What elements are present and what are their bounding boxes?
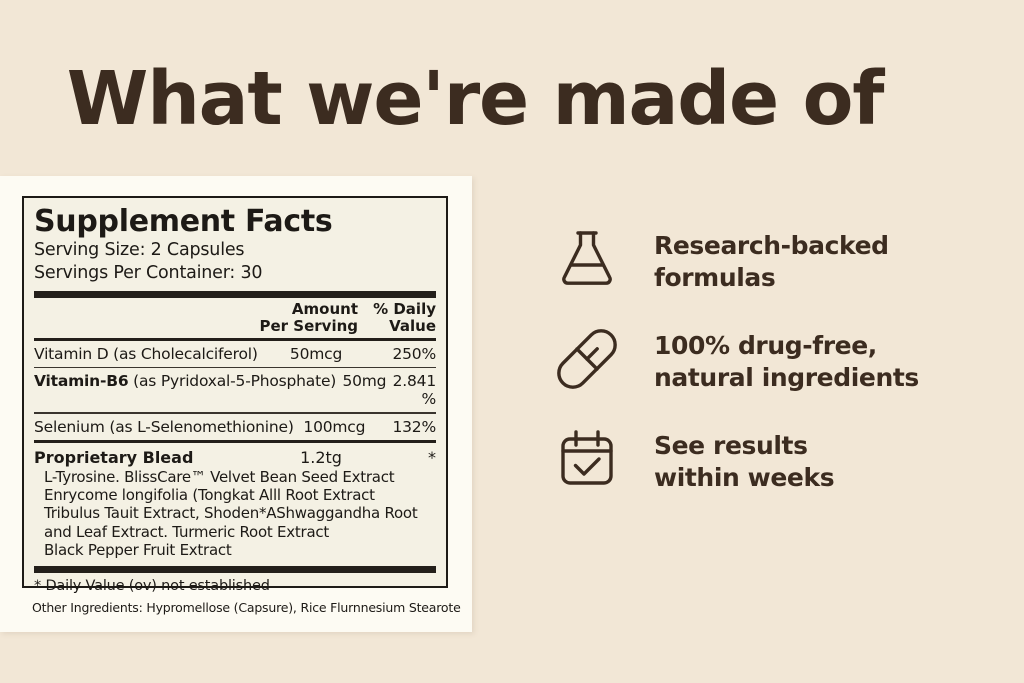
nutrient-name: Vitamin D (as Cholecalciferol) <box>34 345 268 363</box>
divider-thick-bottom <box>34 566 436 573</box>
proprietary-blend-row: Proprietary Blead 1.2tg * <box>34 443 436 468</box>
column-header-amount-line1: Amount <box>240 301 358 318</box>
feature-list: Research-backed formulas 100% drug-free,… <box>556 228 919 528</box>
feature-label-line2: within weeks <box>654 462 834 494</box>
supplement-facts-title: Supplement Facts <box>34 204 436 239</box>
calendar-check-icon <box>556 428 618 490</box>
nutrient-name-rest: (as Pyridoxal-5-Phosphate) <box>128 372 336 390</box>
feature-label-line1: See results <box>654 430 834 462</box>
column-header-amount-line2: Per Serving <box>240 318 358 335</box>
divider-thick-top <box>34 291 436 298</box>
feature-item-research-backed: Research-backed formulas <box>556 228 919 294</box>
column-header-amount: Amount Per Serving <box>240 301 358 335</box>
list-item: Enrycome longifolia (Tongkat Alll Root E… <box>44 486 436 504</box>
list-item: Tribulus Tauit Extract, Shoden*AShwaggan… <box>44 504 436 522</box>
list-item: Black Pepper Fruit Extract <box>44 541 436 559</box>
servings-per-container: Servings Per Container: 30 <box>34 262 436 284</box>
supplement-facts-card: Supplement Facts Serving Size: 2 Capsule… <box>0 176 472 632</box>
nutrient-name-rest: Selenium (as L-Selenomethionine) <box>34 418 294 436</box>
nutrient-amount: 50mcg <box>268 345 364 363</box>
feature-label-line1: 100% drug-free, <box>654 330 919 362</box>
other-ingredients: Other Ingredients: Hypromellose (Capsure… <box>32 600 461 615</box>
nutrient-amount: 100mcg <box>294 418 375 436</box>
feature-label: Research-backed formulas <box>654 228 889 294</box>
feature-label-line2: natural ingredients <box>654 362 919 394</box>
list-item: and Leaf Extract. Turmeric Root Extract <box>44 523 436 541</box>
capsule-icon <box>556 328 618 390</box>
feature-label-line1: Research-backed <box>654 230 889 262</box>
daily-value-footnote: * Daily Value (ov) not established <box>34 573 436 598</box>
nutrient-name-rest: Vitamin D (as Cholecalciferol) <box>34 345 258 363</box>
table-row: Selenium (as L-Selenomethionine) 100mcg … <box>34 414 436 440</box>
column-header-daily-value: % Daily Value <box>358 301 436 335</box>
supplement-facts-panel: Supplement Facts Serving Size: 2 Capsule… <box>22 196 448 588</box>
serving-size: Serving Size: 2 Capsules <box>34 239 436 261</box>
nutrient-daily-value: 2.841 % <box>393 372 436 408</box>
feature-item-see-results: See results within weeks <box>556 428 919 494</box>
feature-label: See results within weeks <box>654 428 834 494</box>
nutrient-amount: 50mg <box>336 372 392 390</box>
table-row: Vitamin-B6 (as Pyridoxal-5-Phosphate) 50… <box>34 368 436 412</box>
column-headers: Amount Per Serving % Daily Value <box>34 298 436 338</box>
column-header-dv-line1: % Daily <box>358 301 436 318</box>
table-row: Vitamin D (as Cholecalciferol) 50mcg 250… <box>34 341 436 367</box>
nutrient-name-bold: Vitamin-B6 <box>34 372 128 390</box>
nutrient-name: Vitamin-B6 (as Pyridoxal-5-Phosphate) <box>34 372 336 390</box>
nutrient-daily-value: 250% <box>364 345 436 363</box>
nutrient-name: Selenium (as L-Selenomethionine) <box>34 418 294 436</box>
flask-icon <box>556 228 618 290</box>
column-header-dv-line2: Value <box>358 318 436 335</box>
feature-label: 100% drug-free, natural ingredients <box>654 328 919 394</box>
blend-ingredient-list: L-Tyrosine. BlissCare™ Velvet Bean Seed … <box>34 468 436 559</box>
proprietary-blend-daily-value: * <box>396 448 436 467</box>
nutrient-daily-value: 132% <box>375 418 436 436</box>
feature-item-drug-free: 100% drug-free, natural ingredients <box>556 328 919 394</box>
feature-label-line2: formulas <box>654 262 889 294</box>
list-item: L-Tyrosine. BlissCare™ Velvet Bean Seed … <box>44 468 436 486</box>
proprietary-blend-amount: 1.2tg <box>246 448 396 467</box>
proprietary-blend-name: Proprietary Blead <box>34 448 246 467</box>
page-title: What we're made of <box>0 62 950 136</box>
